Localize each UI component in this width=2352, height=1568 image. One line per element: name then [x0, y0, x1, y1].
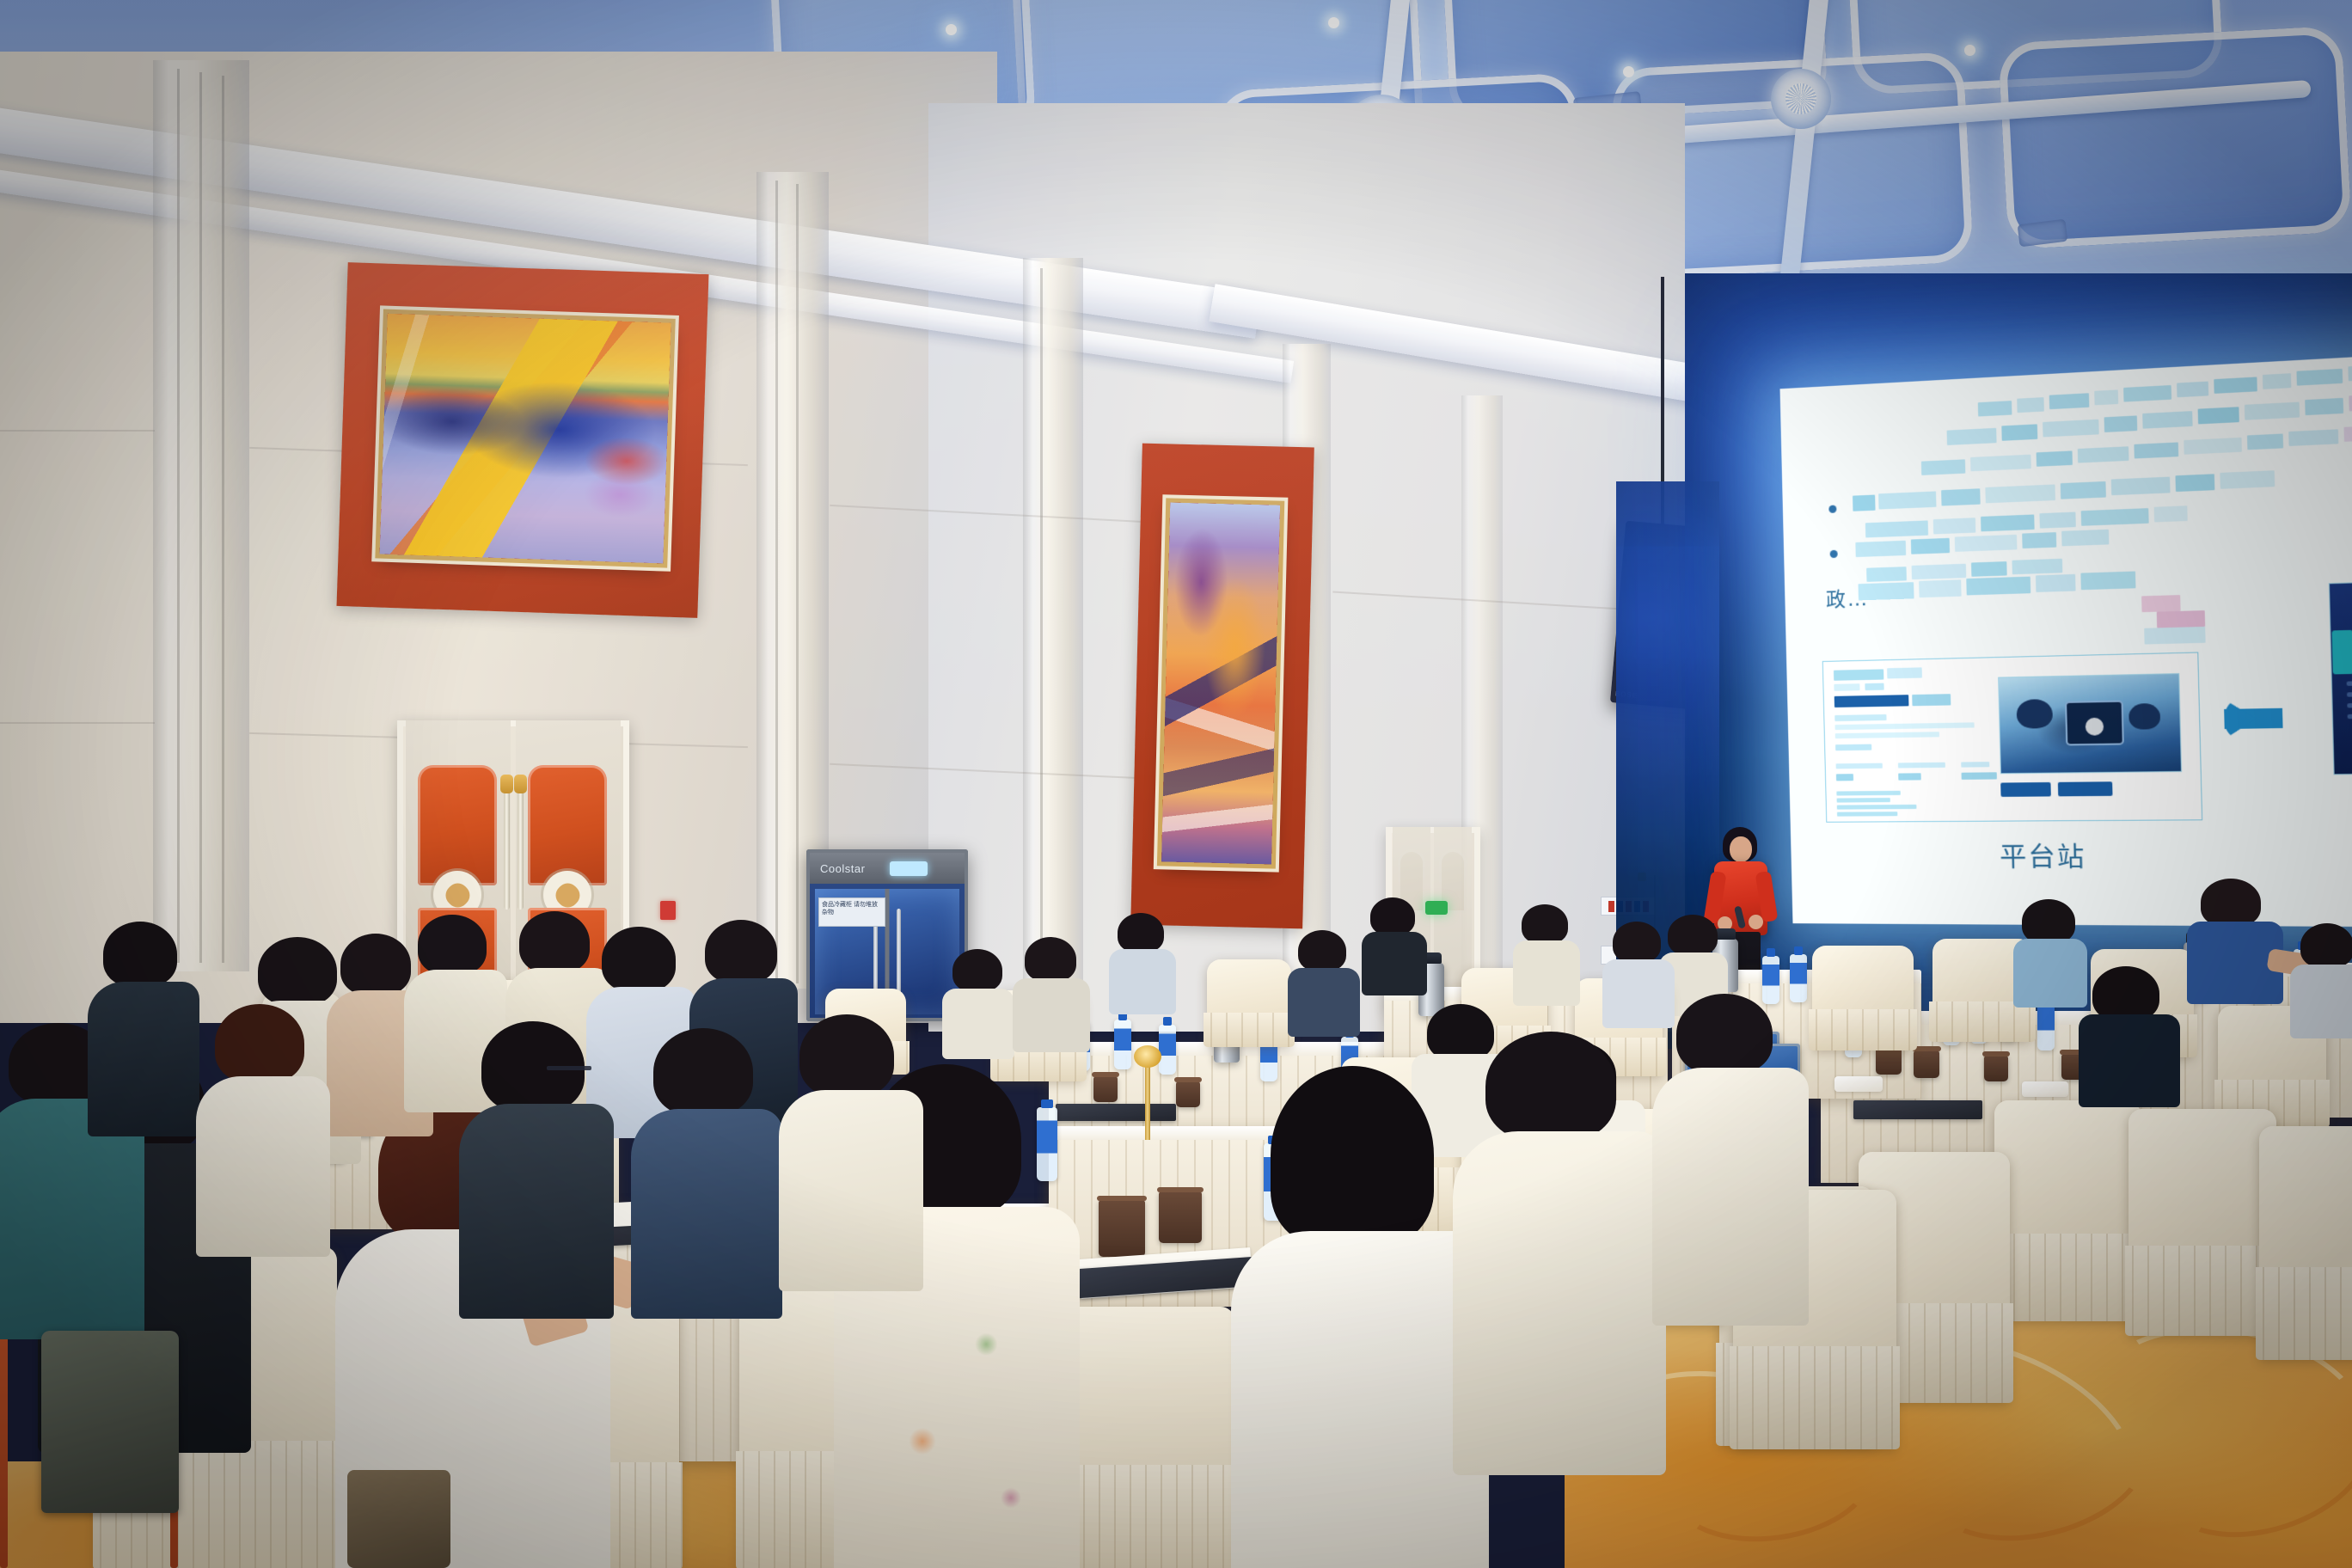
painting-landscape-canvas [380, 314, 671, 564]
painting-vertical [1161, 502, 1280, 864]
leather-padfolio [1853, 1100, 1982, 1119]
recessed-downlight [1623, 66, 1634, 77]
presenter-face [1730, 836, 1752, 862]
refrigerator-temperature-display [890, 861, 928, 876]
banquet-chair[interactable] [1994, 1100, 2141, 1320]
ceramic-teacup [1159, 1191, 1202, 1243]
artwork-panel-vertical [1130, 444, 1314, 929]
slide-bullet-marker [1828, 505, 1836, 513]
banquet-chair[interactable] [2259, 1126, 2352, 1358]
door-handle[interactable] [518, 789, 524, 910]
ceramic-teacup [1914, 1050, 1939, 1078]
painting-vertical-canvas [1161, 502, 1280, 864]
eyeglasses [547, 1066, 591, 1070]
door-panel [418, 765, 497, 885]
table-number-stand [1145, 1066, 1150, 1140]
stone-seam [0, 430, 155, 432]
leather-padfolio [1056, 1104, 1176, 1121]
water-bottle [1790, 954, 1807, 1002]
ceramic-teacup [1093, 1076, 1118, 1102]
recessed-downlight [1964, 45, 1975, 56]
water-bottle [1762, 956, 1779, 1004]
handbag [347, 1470, 450, 1568]
slide-bullet-marker [1830, 550, 1838, 558]
banquet-chair[interactable] [2128, 1109, 2276, 1334]
pilaster-flute [796, 184, 799, 983]
mobile-app-screenshot [2329, 579, 2352, 775]
flow-arrow [2224, 708, 2282, 729]
refrigerator-brand: Coolstar [820, 862, 865, 875]
recessed-downlight [946, 24, 957, 35]
refrigerator-header: Coolstar [810, 853, 965, 884]
recessed-downlight [1328, 17, 1339, 28]
ceiling-rosette [1771, 69, 1831, 129]
artwork-panel-horizontal [336, 262, 708, 618]
door-handle[interactable] [504, 789, 510, 910]
conference-hall-photo: BOSE Coolstar 食品冷藏柜 请勿堆放杂物 [0, 0, 2352, 1568]
banquet-chair[interactable] [1207, 959, 1291, 1045]
presenter-hand-right [1749, 915, 1763, 929]
refrigerator-notice-label: 食品冷藏柜 请勿堆放杂物 [818, 897, 885, 927]
pilaster-flute [177, 69, 180, 963]
door-panel [528, 765, 607, 885]
web-platform-screenshot [1822, 652, 2202, 822]
projection-screen: 政… [1780, 353, 2352, 927]
stone-seam [0, 722, 155, 724]
pilaster-flute [222, 76, 224, 963]
presentation-slide: 政… [1780, 353, 2352, 927]
ceramic-teacup [1099, 1200, 1145, 1257]
fire-alarm-call-point[interactable] [660, 901, 676, 920]
banquet-chair[interactable] [1812, 946, 1914, 1049]
water-bottle [1159, 1025, 1176, 1075]
exit-sign [1425, 901, 1448, 915]
refrigerator-caption [952, 864, 954, 873]
backpack [41, 1331, 179, 1513]
water-bottle [1037, 1107, 1057, 1181]
fluted-pilaster [1023, 258, 1083, 1014]
chair-frame [0, 1300, 8, 1568]
card-button-primary[interactable] [2000, 782, 2051, 797]
card-photo-thumbnail [1998, 673, 2182, 774]
folded-napkin [1834, 1076, 1883, 1092]
water-bottle [1114, 1020, 1131, 1069]
pilaster-flute [1040, 268, 1043, 1013]
card-button-secondary[interactable] [2058, 781, 2113, 796]
folded-napkin [2022, 1081, 2068, 1097]
ceramic-teacup [1176, 1081, 1200, 1107]
slide-caption: 平台站 [2000, 835, 2086, 874]
painting-landscape [380, 314, 671, 564]
pilaster-flute [199, 72, 202, 963]
ceramic-teacup [1984, 1056, 2008, 1081]
pilaster-flute [775, 181, 778, 984]
ceramic-teacup [1876, 1047, 1902, 1075]
app-badge-teal [2331, 630, 2352, 675]
